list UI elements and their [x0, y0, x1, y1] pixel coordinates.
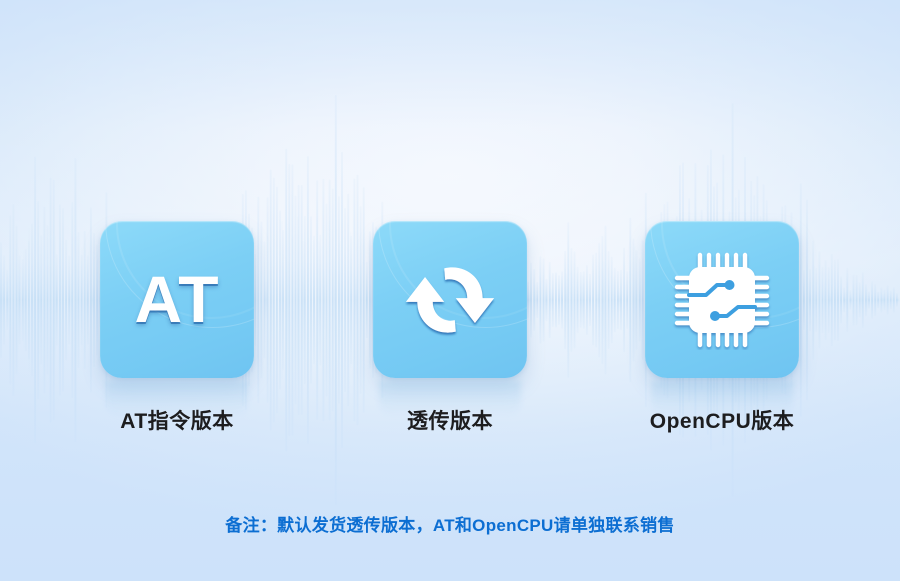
card-surface — [645, 221, 799, 378]
at-text-icon: AT — [100, 221, 254, 378]
card-transparent-transmission[interactable] — [373, 221, 527, 378]
footnote-text: 备注：默认发货透传版本，AT和OpenCPU请单独联系销售 — [0, 511, 900, 536]
card-label-transparent-transmission: 透传版本 — [300, 405, 600, 435]
at-glyph-label: AT — [134, 266, 219, 332]
card-opencpu[interactable] — [645, 221, 799, 378]
slide-root: AT — [0, 0, 900, 581]
card-at-command[interactable]: AT — [100, 221, 254, 378]
card-label-opencpu: OpenCPU版本 — [572, 405, 872, 435]
version-card-row: AT — [0, 221, 900, 381]
sync-arrows-icon — [373, 221, 527, 378]
card-surface: AT — [100, 221, 254, 378]
card-surface — [373, 221, 527, 378]
cpu-chip-icon — [645, 221, 799, 378]
card-label-at-command: AT指令版本 — [27, 405, 327, 435]
